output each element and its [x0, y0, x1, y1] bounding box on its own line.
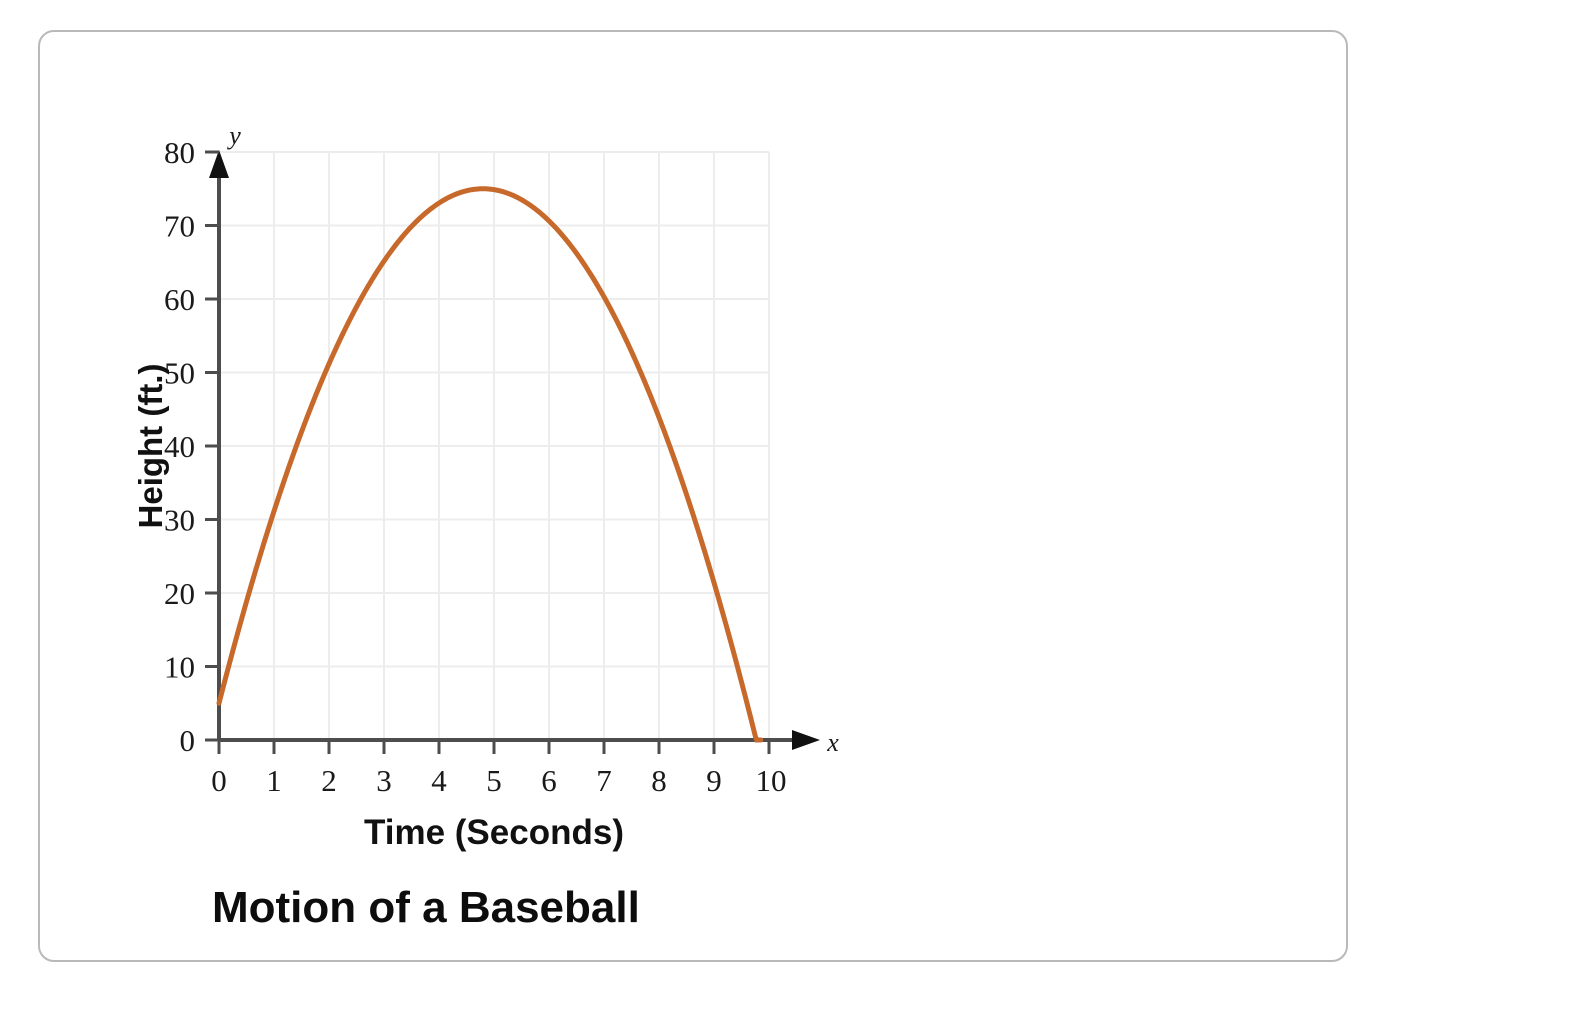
x-tick-label: 2: [321, 763, 337, 798]
axis-lines: [219, 170, 798, 740]
x-axis-title: Time (Seconds): [364, 813, 624, 852]
x-tick-label: 4: [431, 763, 447, 798]
x-tick-labels: 0 1 2 3 4 5 6 7 8 9 10: [211, 763, 786, 798]
y-axis-arrow-icon: [209, 150, 229, 178]
y-tick-label: 80: [164, 135, 195, 170]
x-tick-label: 8: [651, 763, 667, 798]
y-tick-label: 10: [164, 650, 195, 685]
x-tick-label: 0: [211, 763, 227, 798]
y-tick-marks: [205, 152, 219, 740]
y-axis-symbol: y: [226, 121, 241, 150]
baseball-motion-chart: 0 1 2 3 4 5 6 7 8 9 10 0 10 20 3: [40, 32, 1346, 960]
grid-lines: [219, 152, 769, 740]
x-tick-label: 9: [706, 763, 722, 798]
y-tick-label: 70: [164, 209, 195, 244]
y-tick-label: 0: [180, 723, 196, 758]
x-tick-label: 10: [756, 763, 787, 798]
x-tick-label: 5: [486, 763, 502, 798]
y-axis-title: Height (ft.): [132, 364, 169, 529]
x-axis-symbol: x: [826, 728, 839, 757]
x-tick-label: 3: [376, 763, 392, 798]
y-tick-label: 20: [164, 576, 195, 611]
x-tick-label: 6: [541, 763, 557, 798]
chart-card: 0 1 2 3 4 5 6 7 8 9 10 0 10 20 3: [38, 30, 1348, 962]
x-tick-label: 1: [266, 763, 282, 798]
chart-figure: 0 1 2 3 4 5 6 7 8 9 10 0 10 20 3: [40, 32, 1346, 960]
screenshot-root: 0 1 2 3 4 5 6 7 8 9 10 0 10 20 3: [0, 0, 1588, 1016]
x-tick-label: 7: [596, 763, 612, 798]
x-axis-arrow-icon: [792, 730, 820, 750]
x-tick-marks: [219, 740, 769, 754]
chart-title: Motion of a Baseball: [212, 883, 640, 932]
y-tick-label: 60: [164, 282, 195, 317]
baseball-height-curve: [219, 189, 761, 740]
